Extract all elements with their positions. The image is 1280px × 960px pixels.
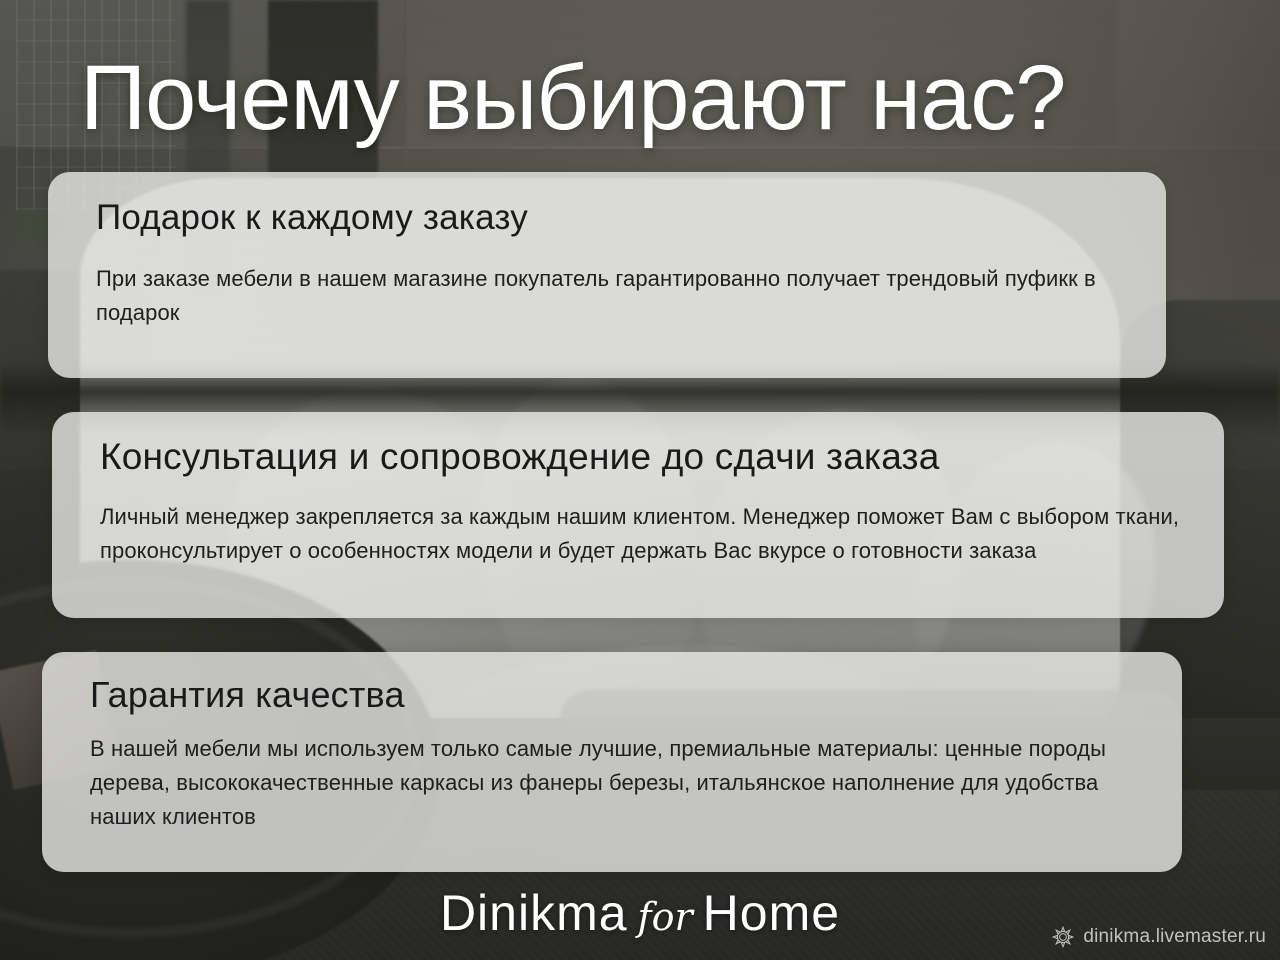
brand-suffix: Home [703, 885, 840, 941]
brand-connector: for [638, 895, 693, 939]
brand-name: Dinikma [440, 885, 628, 941]
watermark-text: dinikma.livemaster.ru [1083, 926, 1266, 948]
benefit-card-heading: Консультация и сопровождение до сдачи за… [100, 436, 940, 478]
benefit-card-gift: Подарок к каждому заказу При заказе мебе… [48, 172, 1166, 378]
benefit-card-body: В нашей мебели мы используем только самы… [90, 732, 1142, 834]
starburst-icon [1052, 926, 1074, 948]
benefit-card-heading: Подарок к каждому заказу [96, 198, 528, 238]
slide-content: Почему выбирают нас? Подарок к каждому з… [0, 0, 1280, 960]
slide: Почему выбирают нас? Подарок к каждому з… [0, 0, 1280, 960]
benefit-card-body: При заказе мебели в нашем магазине покуп… [96, 262, 1126, 330]
benefit-card-quality: Гарантия качества В нашей мебели мы испо… [42, 652, 1182, 872]
benefit-card-heading: Гарантия качества [90, 674, 405, 716]
benefit-card-consultation: Консультация и сопровождение до сдачи за… [52, 412, 1224, 618]
page-title: Почему выбирают нас? [80, 52, 1065, 144]
watermark: dinikma.livemaster.ru [1052, 926, 1266, 948]
benefit-card-body: Личный менеджер закрепляется за каждым н… [100, 500, 1206, 568]
